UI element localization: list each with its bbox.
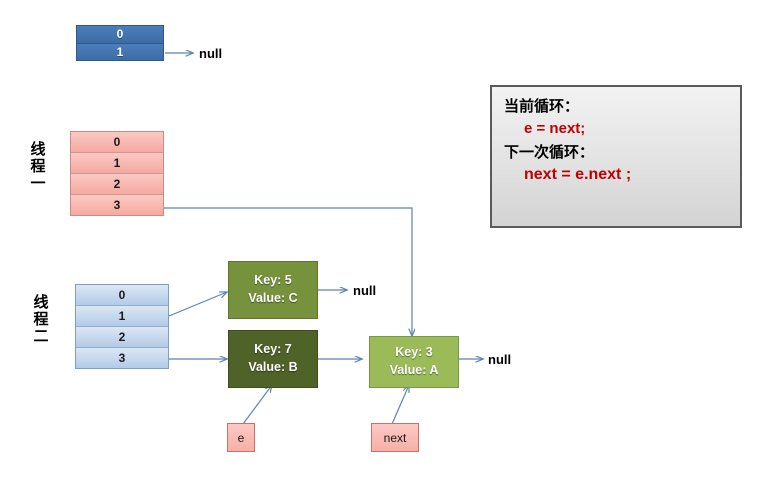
thread-two-row-1[interactable]: 1 [76,306,168,327]
thread-one-row-0[interactable]: 0 [71,132,163,153]
null-label-key5: null [353,284,376,297]
thread-one-bucket-table: 0 1 2 3 [70,131,164,216]
diagram-canvas: 0 1 null 线 程 一 0 1 2 3 线 程 二 0 1 2 3 Key… [0,0,758,480]
null-label-key3: null [488,353,511,366]
arrow-pointer-e-to-key7 [243,385,272,424]
note-line-next-assign: next = e.next ; [504,163,730,187]
loop-annotation-box: 当前循环： e = next; 下一次循环： next = e.next ; [490,85,742,228]
node-key3-value: Value: A [390,362,439,380]
thread-two-row-3[interactable]: 3 [76,348,168,368]
thread-two-label-char-1: 程 [30,311,52,328]
bucket-row-1[interactable]: 1 [77,44,163,61]
node-key7-value: Value: B [248,359,297,377]
node-key5-value: Value: C [248,290,297,308]
thread-one-label: 线 程 一 [27,141,49,191]
node-key3[interactable]: Key: 3 Value: A [369,336,459,388]
thread-two-label: 线 程 二 [30,294,52,344]
note-line-next-loop: 下一次循环： [504,141,730,164]
thread-two-label-char-0: 线 [30,294,52,311]
thread-one-row-1[interactable]: 1 [71,153,163,174]
note-line-current-loop: 当前循环： [504,95,730,118]
thread-one-row-3[interactable]: 3 [71,195,163,215]
null-label-top: null [199,47,222,60]
thread-one-label-char-0: 线 [27,141,49,158]
thread-one-row-2[interactable]: 2 [71,174,163,195]
new-bucket-array-table: 0 1 [76,25,164,61]
thread-one-label-char-2: 一 [27,175,49,192]
thread-two-bucket-table: 0 1 2 3 [75,284,169,369]
pointer-e-label: e [238,432,245,444]
node-key7[interactable]: Key: 7 Value: B [228,330,318,388]
node-key5-key: Key: 5 [254,272,292,290]
pointer-next-box[interactable]: next [371,423,419,452]
thread-two-row-2[interactable]: 2 [76,327,168,348]
bucket-row-0[interactable]: 0 [77,26,163,44]
node-key3-key: Key: 3 [395,344,433,362]
thread-two-row-0[interactable]: 0 [76,285,168,306]
connector-layer [0,0,758,480]
node-key5[interactable]: Key: 5 Value: C [228,261,318,319]
thread-two-label-char-2: 二 [30,328,52,345]
thread-one-label-char-1: 程 [27,158,49,175]
pointer-next-label: next [384,432,407,444]
arrow-thread2-row1-to-key5 [169,292,227,316]
pointer-e-box[interactable]: e [227,423,255,452]
note-line-e-assign: e = next; [504,118,730,141]
node-key7-key: Key: 7 [254,341,292,359]
arrow-pointer-next-to-key3 [392,385,409,424]
